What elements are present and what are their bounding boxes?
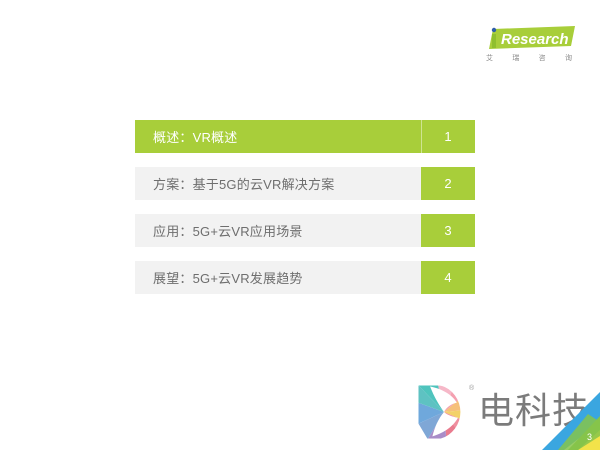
brand-d-mark-icon bbox=[415, 383, 473, 441]
iresearch-subtitle-char: 询 bbox=[565, 53, 572, 63]
agenda-item-number: 2 bbox=[421, 167, 475, 200]
iresearch-subtitle-char: 咨 bbox=[539, 53, 546, 63]
iresearch-logo: Research 艾 瑞 咨 询 bbox=[483, 26, 575, 70]
agenda-item-label: 方案：基于5G的云VR解决方案 bbox=[135, 167, 421, 200]
agenda-list: 概述：VR概述 1 方案：基于5G的云VR解决方案 2 应用：5G+云VR应用场… bbox=[135, 120, 475, 294]
agenda-item-number: 3 bbox=[421, 214, 475, 247]
iresearch-subtitle: 艾 瑞 咨 询 bbox=[484, 53, 574, 63]
agenda-item-label: 应用：5G+云VR应用场景 bbox=[135, 214, 421, 247]
iresearch-wordmark: Research bbox=[483, 26, 575, 52]
registered-trademark-icon: ® bbox=[469, 385, 474, 392]
iresearch-subtitle-char: 瑞 bbox=[512, 53, 519, 63]
agenda-item-label: 概述：VR概述 bbox=[135, 120, 421, 153]
agenda-item-2[interactable]: 方案：基于5G的云VR解决方案 2 bbox=[135, 167, 475, 200]
agenda-item-3[interactable]: 应用：5G+云VR应用场景 3 bbox=[135, 214, 475, 247]
agenda-item-number: 4 bbox=[421, 261, 475, 294]
slide-canvas: Research 艾 瑞 咨 询 概述：VR概述 1 方案：基于5G的云VR解决… bbox=[0, 0, 600, 450]
agenda-item-label: 展望：5G+云VR发展趋势 bbox=[135, 261, 421, 294]
brand-logo: ® 电科技 bbox=[415, 383, 600, 445]
agenda-item-number: 1 bbox=[421, 120, 475, 153]
svg-text:Research: Research bbox=[501, 31, 569, 48]
brand-name: 电科技 bbox=[478, 389, 589, 433]
agenda-item-1[interactable]: 概述：VR概述 1 bbox=[135, 120, 475, 153]
page-number: 3 bbox=[587, 432, 592, 442]
iresearch-subtitle-char: 艾 bbox=[486, 53, 493, 63]
agenda-item-4[interactable]: 展望：5G+云VR发展趋势 4 bbox=[135, 261, 475, 294]
